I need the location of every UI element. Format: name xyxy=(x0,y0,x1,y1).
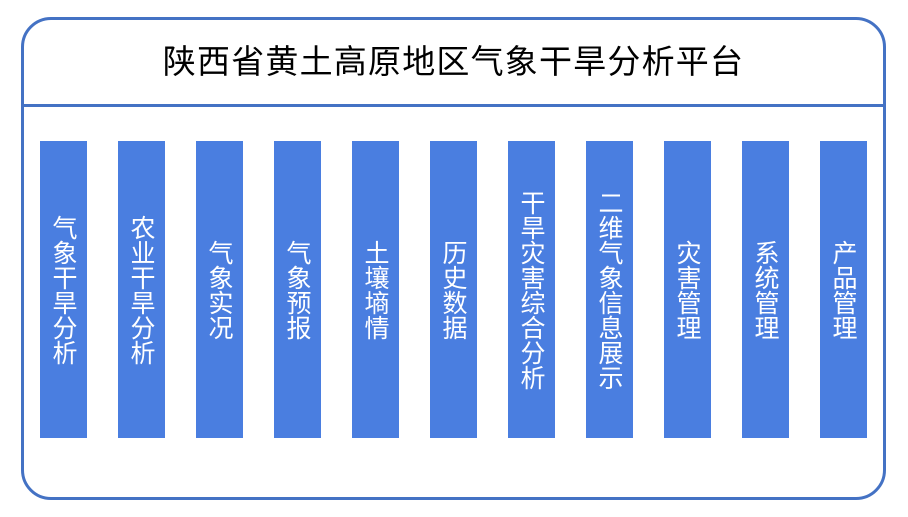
nav-item-label: 产品管理 xyxy=(827,240,860,340)
navigation-bar-strip: 气象干旱分析 农业干旱分析 气象实况 气象预报 土壤墒情 历史数据 干旱灾害综合… xyxy=(24,107,883,497)
header-bar: 陕西省黄土高原地区气象干旱分析平台 xyxy=(24,20,883,107)
nav-item-label: 气象实况 xyxy=(203,240,236,340)
nav-item-agricultural-drought-analysis[interactable]: 农业干旱分析 xyxy=(118,141,165,438)
nav-item-soil-moisture[interactable]: 土壤墒情 xyxy=(352,141,399,438)
application-frame: 陕西省黄土高原地区气象干旱分析平台 气象干旱分析 农业干旱分析 气象实况 气象预… xyxy=(21,17,886,500)
nav-item-weather-observation[interactable]: 气象实况 xyxy=(196,141,243,438)
nav-item-drought-disaster-comprehensive-analysis[interactable]: 干旱灾害综合分析 xyxy=(508,141,555,438)
nav-item-meteorological-drought-analysis[interactable]: 气象干旱分析 xyxy=(40,141,87,438)
nav-item-weather-forecast[interactable]: 气象预报 xyxy=(274,141,321,438)
nav-item-system-management[interactable]: 系统管理 xyxy=(742,141,789,438)
nav-item-product-management[interactable]: 产品管理 xyxy=(820,141,867,438)
nav-item-historical-data[interactable]: 历史数据 xyxy=(430,141,477,438)
nav-item-label: 历史数据 xyxy=(437,240,470,340)
nav-item-label: 二维气象信息展示 xyxy=(593,190,626,390)
nav-item-label: 气象干旱分析 xyxy=(47,215,80,365)
nav-item-label: 农业干旱分析 xyxy=(125,215,158,365)
nav-item-label: 气象预报 xyxy=(281,240,314,340)
page-title: 陕西省黄土高原地区气象干旱分析平台 xyxy=(163,45,744,80)
nav-item-label: 系统管理 xyxy=(749,240,782,340)
nav-item-label: 干旱灾害综合分析 xyxy=(515,190,548,390)
nav-item-disaster-management[interactable]: 灾害管理 xyxy=(664,141,711,438)
nav-item-label: 土壤墒情 xyxy=(359,240,392,340)
nav-item-2d-meteorological-information-display[interactable]: 二维气象信息展示 xyxy=(586,141,633,438)
nav-item-label: 灾害管理 xyxy=(671,240,704,340)
